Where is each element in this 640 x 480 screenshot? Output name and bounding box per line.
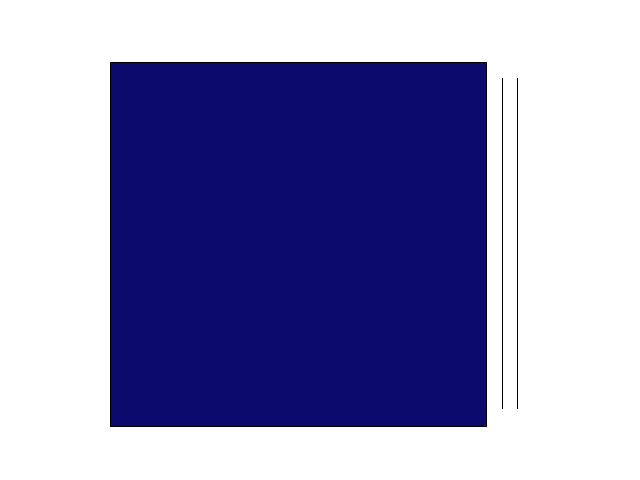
matplotlib-figure [0, 0, 640, 480]
colorbar [502, 62, 518, 425]
colorbar-extend-max-arrow [502, 62, 518, 78]
dph-heatmap-image [111, 63, 486, 426]
colorbar-extend-min-arrow [502, 409, 518, 425]
colorbar-gradient [502, 78, 518, 409]
heatmap-axes [110, 62, 487, 427]
